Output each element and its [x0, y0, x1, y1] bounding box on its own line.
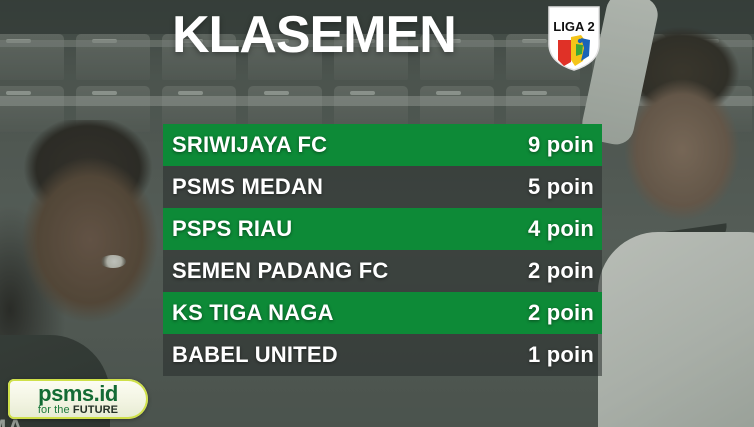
team-name: PSPS RIAU: [172, 216, 292, 242]
team-points: 5 poin: [528, 174, 594, 200]
watermark-sub-a: for the: [38, 404, 73, 416]
broadcast-graphic: MA KLASEMEN LIGA 2 SRIWIJAYA FC9 poinPSM…: [0, 0, 754, 427]
team-points: 1 poin: [528, 342, 594, 368]
team-points: 9 poin: [528, 132, 594, 158]
team-points: 2 poin: [528, 300, 594, 326]
watermark-sub-b: FUTURE: [73, 404, 118, 416]
watermark-logo: psms.id for the FUTURE: [8, 379, 148, 419]
team-name: SRIWIJAYA FC: [172, 132, 327, 158]
team-points: 4 poin: [528, 216, 594, 242]
table-row: PSPS RIAU4 poin: [163, 208, 602, 250]
watermark-main-text: psms.id: [38, 383, 118, 404]
team-name: BABEL UNITED: [172, 342, 338, 368]
table-row: SEMEN PADANG FC2 poin: [163, 250, 602, 292]
watermark-sub-text: for the FUTURE: [38, 404, 118, 416]
page-title: KLASEMEN: [172, 6, 456, 64]
standings-table: SRIWIJAYA FC9 poinPSMS MEDAN5 poinPSPS R…: [163, 124, 602, 376]
svg-text:LIGA 2: LIGA 2: [553, 19, 594, 34]
table-row: KS TIGA NAGA2 poin: [163, 292, 602, 334]
liga2-shield-icon: LIGA 2: [546, 4, 602, 72]
table-row: PSMS MEDAN5 poin: [163, 166, 602, 208]
team-name: SEMEN PADANG FC: [172, 258, 389, 284]
team-name: KS TIGA NAGA: [172, 300, 334, 326]
team-points: 2 poin: [528, 258, 594, 284]
team-name: PSMS MEDAN: [172, 174, 323, 200]
table-row: BABEL UNITED1 poin: [163, 334, 602, 376]
table-row: SRIWIJAYA FC9 poin: [163, 124, 602, 166]
